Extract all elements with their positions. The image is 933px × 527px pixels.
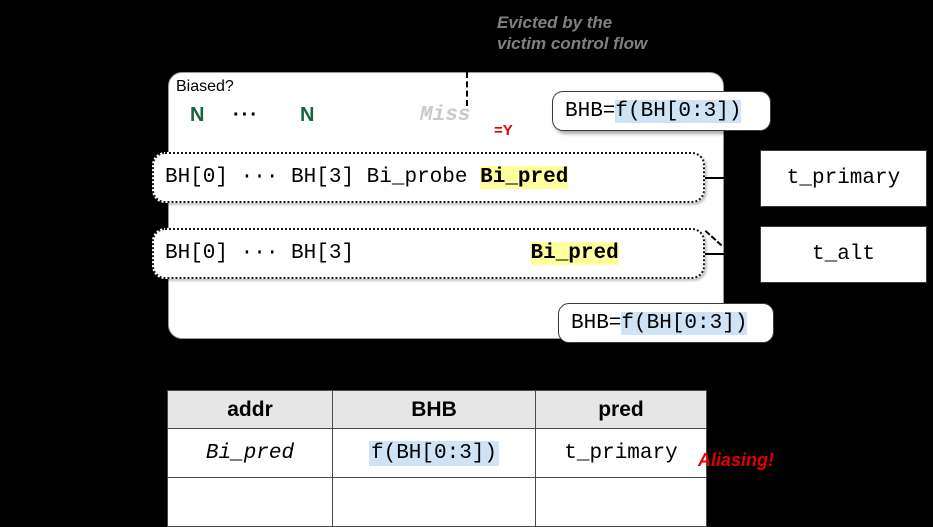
- table-header-row: addr BHB pred: [168, 391, 707, 429]
- bias-value-ellipsis: ···: [233, 104, 259, 127]
- entry-probe: Bi_probe: [367, 166, 468, 189]
- bias-value-last: N: [300, 104, 314, 127]
- evicted-caption: Evicted by the victim control flow: [497, 12, 727, 54]
- entry-bh-start: BH[0]: [165, 166, 228, 189]
- equals-yes-label: =Y: [494, 122, 513, 139]
- miss-label: Miss: [420, 104, 470, 127]
- target-box-primary[interactable]: t_primary: [760, 150, 927, 207]
- cell-addr: Bi_pred: [168, 429, 333, 478]
- entry-bh-end: BH[3]: [291, 242, 354, 265]
- biased-question-label: Biased?: [176, 78, 234, 96]
- target-box-alt[interactable]: t_alt: [760, 226, 927, 283]
- bhb-callout-top: BHB=f(BH[0:3]): [552, 91, 771, 131]
- bhb-function: f(BH[0:3]): [615, 100, 741, 123]
- cell-bhb: [333, 478, 536, 527]
- table-row[interactable]: [168, 478, 707, 527]
- cell-pred: [536, 478, 707, 527]
- cell-pred: t_primary: [536, 429, 707, 478]
- entry-row[interactable]: BH[0] ··· BH[3] Bi_pred: [152, 228, 705, 279]
- entry-bh-end: BH[3]: [291, 166, 354, 189]
- miss-dashed-line: [466, 72, 468, 106]
- entry-row[interactable]: BH[0] ··· BH[3] Bi_probe Bi_pred: [152, 152, 705, 203]
- btb-table: addr BHB pred Bi_pred f(BH[0:3]) t_prima…: [167, 390, 707, 527]
- bhb-callout-bottom: BHB=f(BH[0:3]): [558, 303, 774, 343]
- entry-bh-start: BH[0]: [165, 242, 228, 265]
- bias-value-first: N: [190, 104, 204, 127]
- table-header-pred: pred: [536, 391, 707, 429]
- entry-bh-dots: ···: [241, 166, 279, 189]
- diagram-canvas: Evicted by the victim control flow Biase…: [0, 0, 933, 527]
- cell-bhb-highlight: f(BH[0:3]): [369, 441, 499, 466]
- table-header-bhb: BHB: [333, 391, 536, 429]
- connector-line-primary: [705, 177, 738, 179]
- entry-pred-highlight: Bi_pred: [480, 166, 568, 189]
- table-header-addr: addr: [168, 391, 333, 429]
- cell-bhb: f(BH[0:3]): [333, 429, 536, 478]
- bhb-prefix: BHB=: [565, 100, 615, 123]
- bhb-prefix: BHB=: [571, 312, 621, 335]
- cell-addr: [168, 478, 333, 527]
- bhb-function: f(BH[0:3]): [621, 312, 747, 335]
- entry-pred-highlight: Bi_pred: [531, 242, 619, 265]
- entry-bh-dots: ···: [241, 242, 279, 265]
- table-row[interactable]: Bi_pred f(BH[0:3]) t_primary: [168, 429, 707, 478]
- aliasing-note: Aliasing!: [698, 450, 774, 471]
